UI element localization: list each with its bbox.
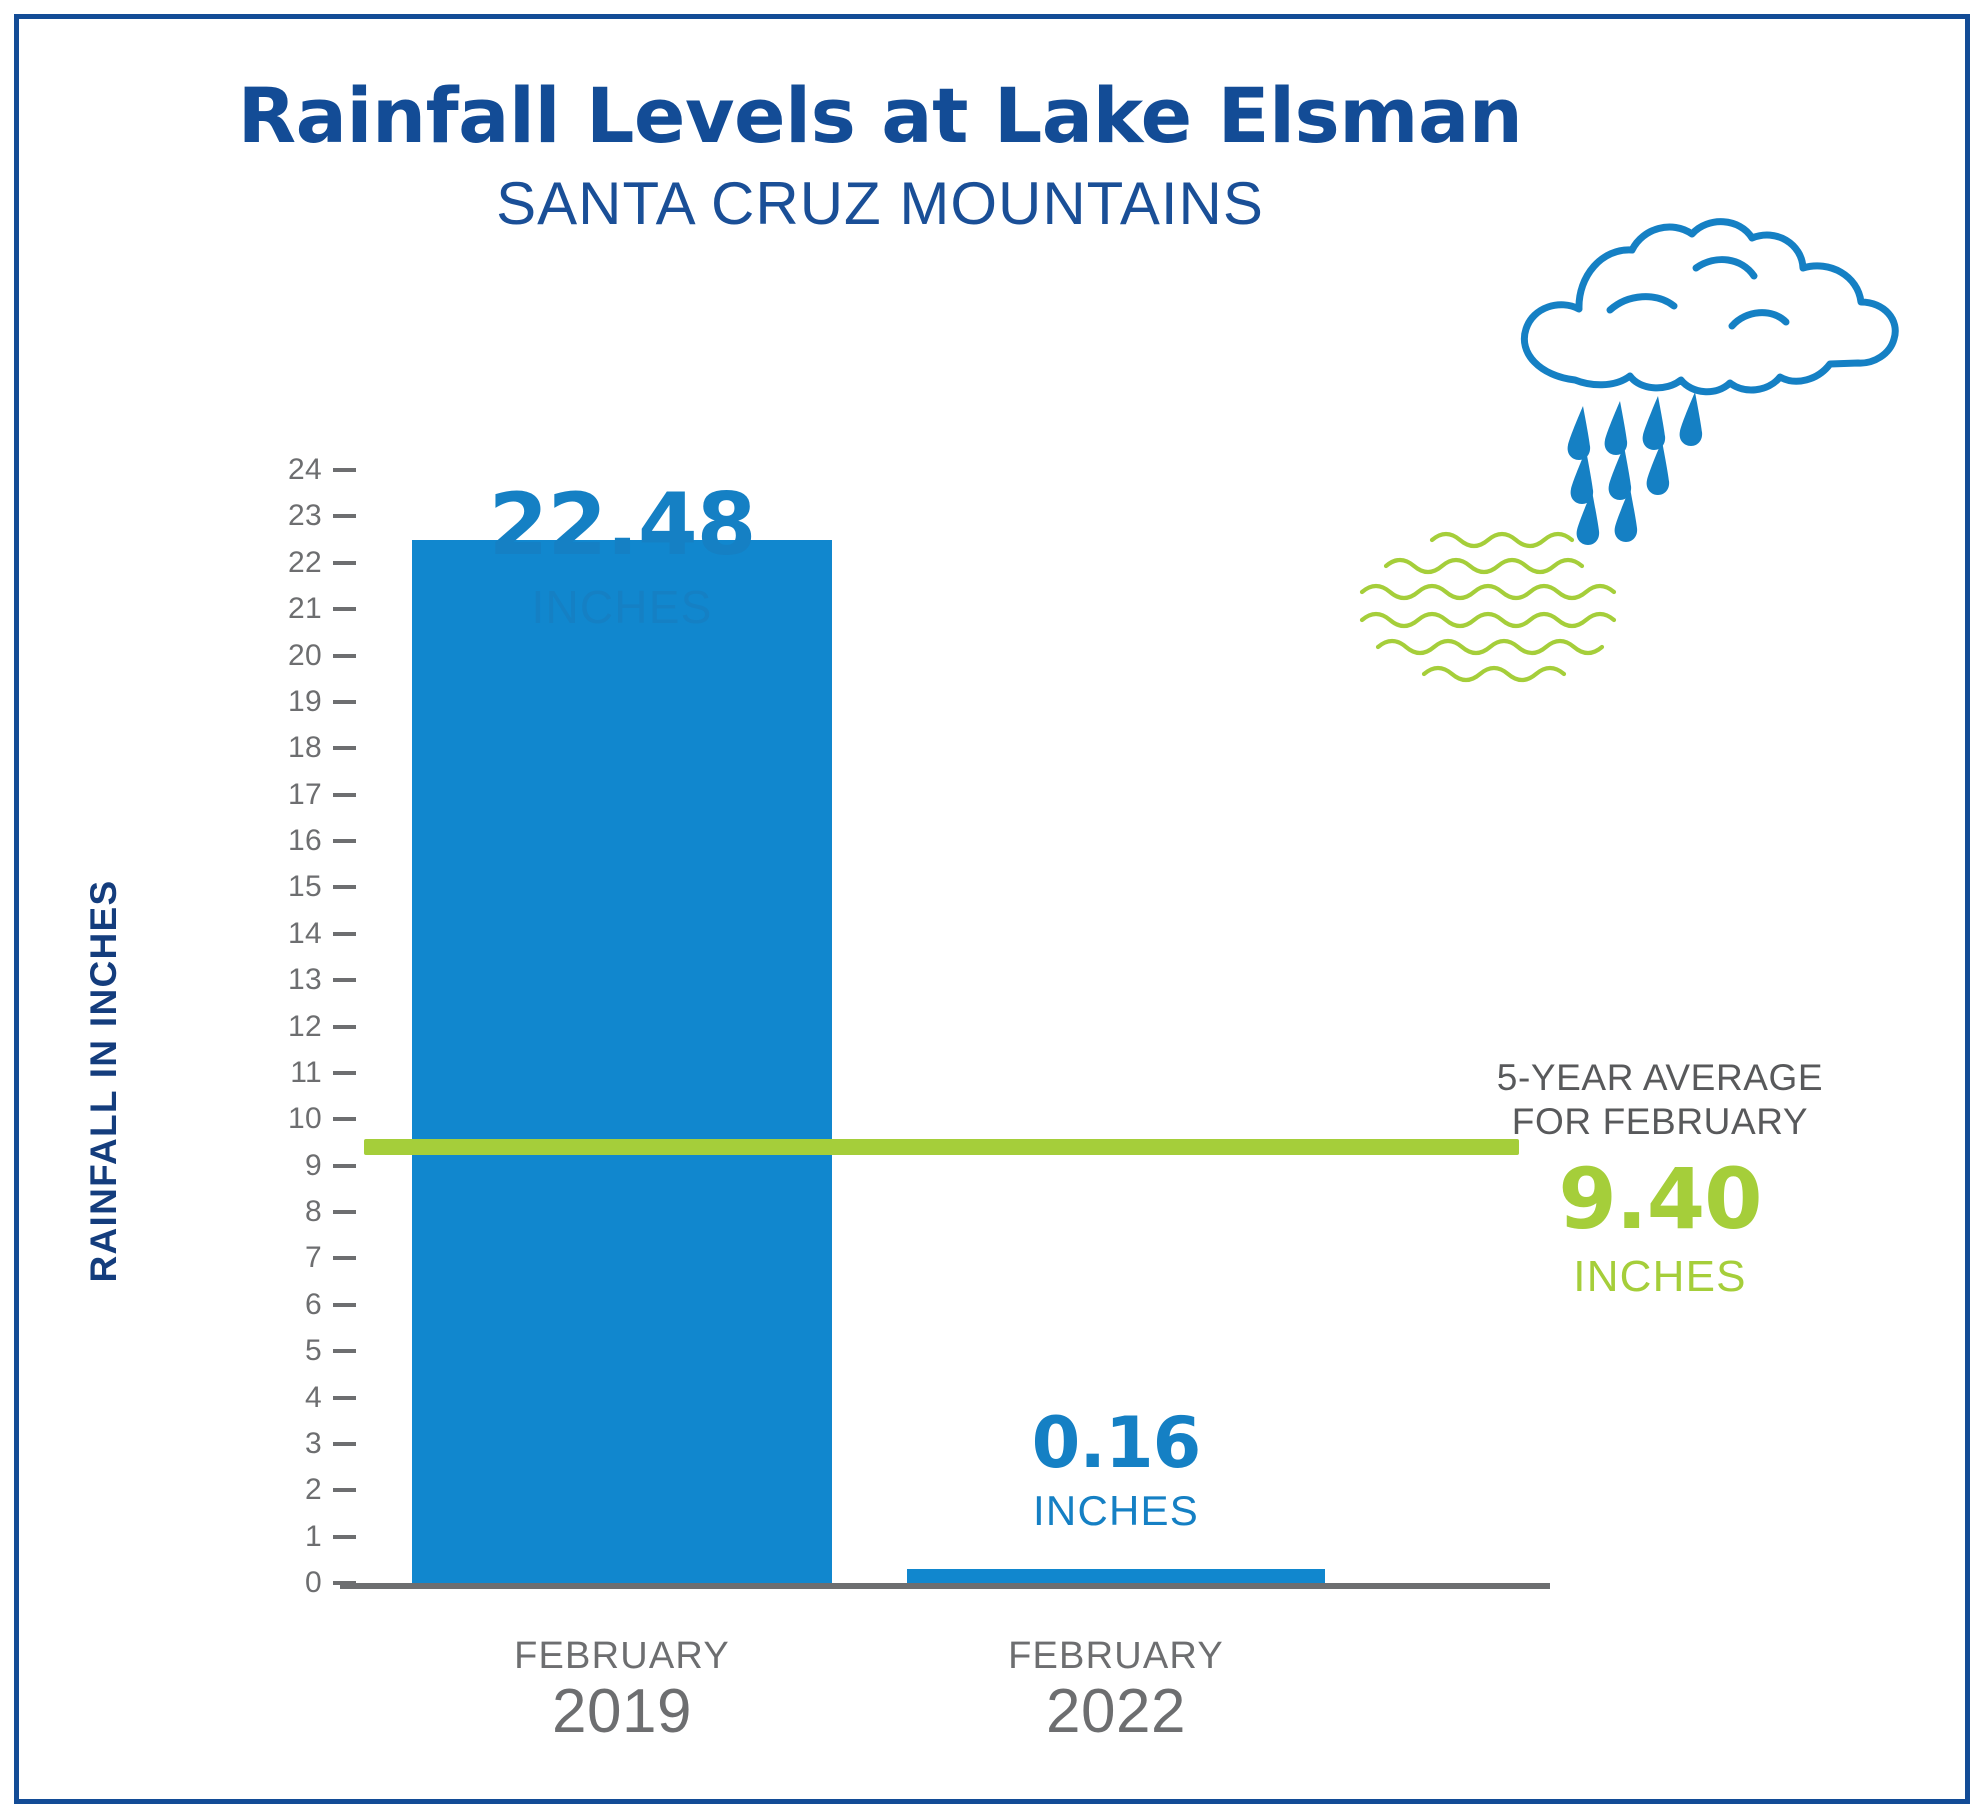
y-axis-tick-label: 16 [288,826,322,856]
x-category-2022: FEBRUARY 2022 [877,1635,1355,1744]
y-axis-tick-dash [333,1117,356,1121]
bar-february-2022[interactable] [907,1569,1325,1583]
x-year-2022: 2022 [877,1679,1355,1744]
y-axis-tick-label: 12 [288,1012,322,1042]
y-axis-tick-dash [333,1256,356,1260]
y-axis-tick-dash [333,1303,356,1307]
value-2022: 0.16 [907,1408,1325,1478]
y-axis-tick-label: 1 [305,1522,322,1552]
y-axis-tick: 23 [236,503,356,529]
y-axis-tick-dash [333,468,356,472]
average-caption-line1: 5-YEAR AVERAGE [1470,1056,1850,1100]
y-axis-tick-dash [333,932,356,936]
y-axis-tick-dash [333,978,356,982]
y-axis-tick-dash [333,1164,356,1168]
y-axis-tick: 14 [236,921,356,947]
y-axis-tick: 13 [236,967,356,993]
y-axis-tick-dash [333,1488,356,1492]
y-axis-tick-dash [333,1349,356,1353]
y-axis-tick-label: 7 [305,1243,322,1273]
x-month-2019: FEBRUARY [382,1635,862,1679]
plot-area: 2423222120191817161514131211109876543210… [0,0,1984,1818]
y-axis-tick-dash [333,1396,356,1400]
y-axis-tick-label: 5 [305,1336,322,1366]
y-axis-tick-label: 6 [305,1290,322,1320]
five-year-average-callout: 5-YEAR AVERAGE FOR FEBRUARY 9.40 INCHES [1470,1056,1850,1299]
y-axis-tick: 24 [236,457,356,483]
y-axis-tick-dash [333,1442,356,1446]
y-axis-tick: 3 [236,1431,356,1457]
y-axis-tick: 11 [236,1060,356,1086]
y-axis-tick-dash [333,1210,356,1214]
y-axis-tick-label: 8 [305,1197,322,1227]
y-axis-tick: 20 [236,643,356,669]
y-axis-tick: 16 [236,828,356,854]
y-axis-tick-label: 4 [305,1383,322,1413]
y-axis-tick: 5 [236,1338,356,1364]
y-axis-tick-label: 21 [288,594,322,624]
y-axis-tick-label: 19 [288,687,322,717]
y-axis-tick-dash [333,793,356,797]
y-axis-tick-label: 22 [288,548,322,578]
y-axis-tick: 22 [236,550,356,576]
y-axis-tick-dash [333,746,356,750]
unit-2022: INCHES [907,1490,1325,1532]
y-axis-tick-label: 23 [288,501,322,531]
infographic-canvas: Rainfall Levels at Lake Elsman SANTA CRU… [0,0,1984,1818]
x-year-2019: 2019 [382,1679,862,1744]
average-value: 9.40 [1470,1157,1850,1241]
y-axis-tick-label: 17 [288,780,322,810]
y-axis-tick-label: 24 [288,455,322,485]
y-axis-tick-label: 14 [288,919,322,949]
y-axis-tick-dash [333,514,356,518]
y-axis-tick: 0 [236,1570,356,1596]
y-axis-tick-label: 0 [305,1568,322,1598]
y-axis-tick-label: 10 [288,1104,322,1134]
y-axis-tick: 10 [236,1106,356,1132]
y-axis-tick-dash [333,561,356,565]
x-axis-baseline [340,1583,1550,1589]
y-axis-tick-label: 15 [288,872,322,902]
y-axis-tick-dash [333,1071,356,1075]
y-axis-tick: 7 [236,1245,356,1271]
y-axis-tick-dash [333,700,356,704]
y-axis-tick-label: 20 [288,641,322,671]
value-2019: 22.48 [412,482,832,568]
y-axis-tick: 8 [236,1199,356,1225]
x-category-2019: FEBRUARY 2019 [382,1635,862,1744]
average-unit: INCHES [1470,1255,1850,1299]
y-axis-tick: 17 [236,782,356,808]
value-callout-2022: 0.16 INCHES [907,1408,1325,1532]
y-axis-tick: 15 [236,874,356,900]
bar-february-2019[interactable] [412,540,832,1583]
y-axis-tick: 21 [236,596,356,622]
y-axis-tick-label: 2 [305,1475,322,1505]
value-callout-2019: 22.48 INCHES [412,482,832,630]
y-axis-tick-dash [333,839,356,843]
y-axis-tick: 9 [236,1153,356,1179]
y-axis-tick: 18 [236,735,356,761]
y-axis-tick: 19 [236,689,356,715]
y-axis-tick: 2 [236,1477,356,1503]
y-axis-tick-label: 18 [288,733,322,763]
unit-2019: INCHES [412,584,832,630]
average-caption-line2: FOR FEBRUARY [1470,1100,1850,1144]
y-axis-tick: 1 [236,1524,356,1550]
five-year-average-line [364,1139,1519,1155]
y-axis-tick-dash [333,1025,356,1029]
y-axis-tick-label: 9 [305,1151,322,1181]
y-axis-tick-dash [333,885,356,889]
y-axis-tick-dash [333,1535,356,1539]
y-axis-tick-dash [333,607,356,611]
x-month-2022: FEBRUARY [877,1635,1355,1679]
y-axis-tick-label: 11 [290,1058,322,1088]
y-axis-tick: 12 [236,1014,356,1040]
y-axis-tick: 6 [236,1292,356,1318]
y-axis-tick-dash [333,654,356,658]
y-axis-tick-label: 13 [288,965,322,995]
y-axis-tick: 4 [236,1385,356,1411]
y-axis-tick-label: 3 [305,1429,322,1459]
